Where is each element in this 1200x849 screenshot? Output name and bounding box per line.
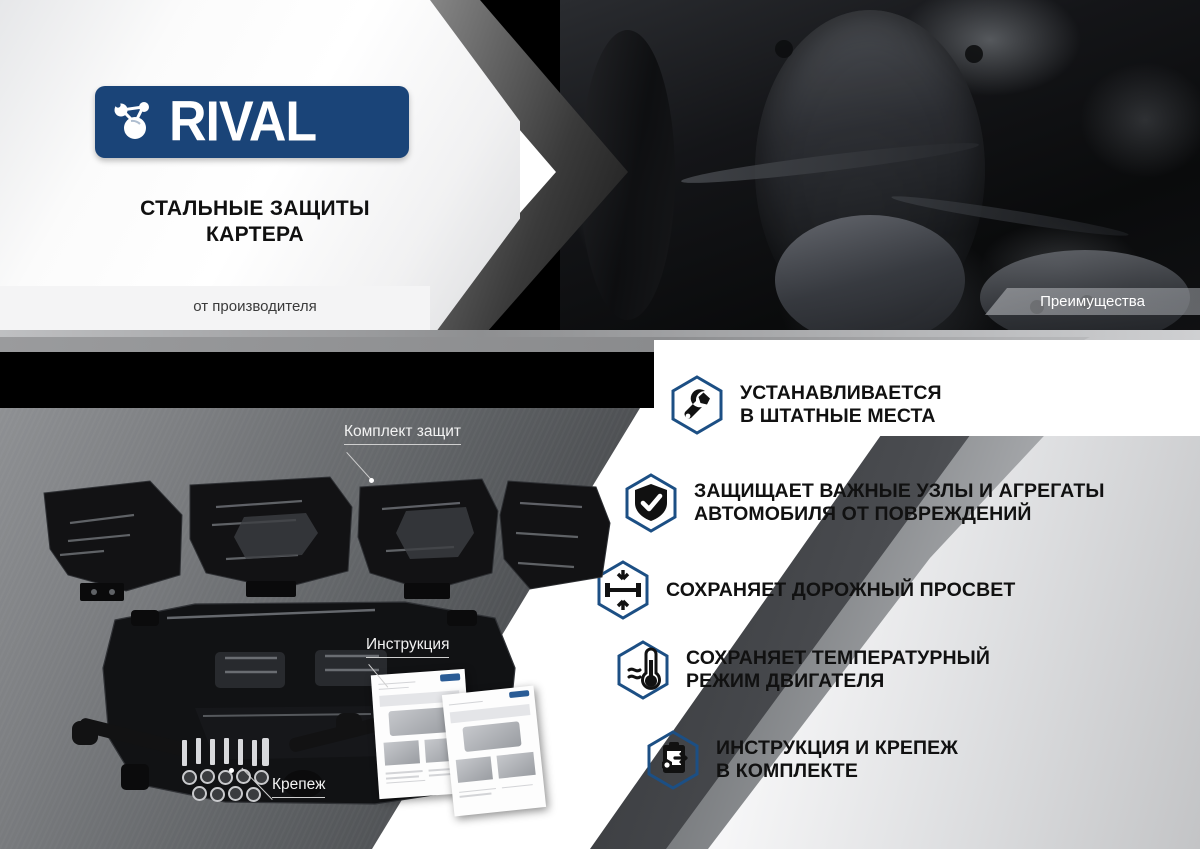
feature-text-installation: УСТАНАВЛИВАЕТСЯ В ШТАТНЫЕ МЕСТА (740, 382, 942, 427)
clipboard-hardware-icon (646, 730, 700, 790)
feature-item-kit-included[interactable]: ИНСТРУКЦИЯ И КРЕПЕЖ В КОМПЛЕКТЕ (646, 730, 958, 790)
feature-line2: В КОМПЛЕКТЕ (716, 760, 958, 783)
feature-line2: РЕЖИМ ДВИГАТЕЛЯ (686, 670, 990, 693)
feature-text-clearance: СОХРАНЯЕТ ДОРОЖНЫЙ ПРОСВЕТ (666, 579, 1015, 602)
feature-line1: ЗАЩИЩАЕТ ВАЖНЫЕ УЗЛЫ И АГРЕГАТЫ (694, 480, 1105, 503)
mounting-bracket-left-2 (72, 721, 98, 745)
feature-line1: СОХРАНЯЕТ ТЕМПЕРАТУРНЫЙ (686, 647, 990, 670)
advantages-tab[interactable]: Преимущества (985, 288, 1200, 315)
feature-item-temperature[interactable]: СОХРАНЯЕТ ТЕМПЕРАТУРНЫЙ РЕЖИМ ДВИГАТЕЛЯ (616, 640, 990, 700)
feature-item-installation[interactable]: УСТАНАВЛИВАЕТСЯ В ШТАТНЫЕ МЕСТА (670, 375, 942, 435)
feature-line1: УСТАНАВЛИВАЕТСЯ (740, 382, 942, 405)
page-title-line2: КАРТЕРА (95, 222, 415, 248)
feature-line1: СОХРАНЯЕТ ДОРОЖНЫЙ ПРОСВЕТ (666, 579, 1015, 602)
callout-manual-label: Инструкция (366, 636, 449, 658)
photo-bolt (965, 45, 983, 63)
callout-manual: Инструкция (366, 636, 449, 658)
photo-bolt (775, 40, 793, 58)
rival-logo[interactable]: RIVAL (95, 86, 409, 158)
callout-hardware: Крепеж (272, 776, 325, 798)
poster-canvas: RIVAL СТАЛЬНЫЕ ЗАЩИТЫ КАРТЕРА от произво… (0, 0, 1200, 849)
thermometer-icon (616, 640, 670, 700)
page-title-line1: СТАЛЬНЫЕ ЗАЩИТЫ (95, 196, 415, 222)
advantages-tab-label: Преимущества (1040, 293, 1145, 310)
logo-wordmark: RIVAL (169, 94, 316, 150)
feature-item-protection[interactable]: ЗАЩИЩАЕТ ВАЖНЫЕ УЗЛЫ И АГРЕГАТЫ АВТОМОБИ… (624, 473, 1105, 533)
feature-text-kit-included: ИНСТРУКЦИЯ И КРЕПЕЖ В КОМПЛЕКТЕ (716, 737, 958, 782)
feature-text-protection: ЗАЩИЩАЕТ ВАЖНЫЕ УЗЛЫ И АГРЕГАТЫ АВТОМОБИ… (694, 480, 1105, 525)
wrench-icon (670, 375, 724, 435)
callout-kit: Комплект защит (344, 423, 461, 445)
page-title: СТАЛЬНЫЕ ЗАЩИТЫ КАРТЕРА (95, 196, 415, 247)
feature-line2: АВТОМОБИЛЯ ОТ ПОВРЕЖДЕНИЙ (694, 503, 1105, 526)
feature-line1: ИНСТРУКЦИЯ И КРЕПЕЖ (716, 737, 958, 760)
page-subtitle: от производителя (95, 298, 415, 315)
feature-line2: В ШТАТНЫЕ МЕСТА (740, 405, 942, 428)
instruction-sheet-back (442, 686, 546, 817)
feature-text-temperature: СОХРАНЯЕТ ТЕМПЕРАТУРНЫЙ РЕЖИМ ДВИГАТЕЛЯ (686, 647, 990, 692)
callout-hardware-dot (229, 768, 234, 773)
feature-item-clearance[interactable]: СОХРАНЯЕТ ДОРОЖНЫЙ ПРОСВЕТ (596, 560, 1015, 620)
photo-skid-plate-lower (775, 215, 965, 345)
mounting-bracket-right-2 (336, 713, 362, 737)
molecule-icon (109, 98, 159, 146)
callout-hardware-label: Крепеж (272, 776, 325, 798)
callout-kit-label: Комплект защит (344, 423, 461, 445)
callout-kit-dot (369, 478, 374, 483)
